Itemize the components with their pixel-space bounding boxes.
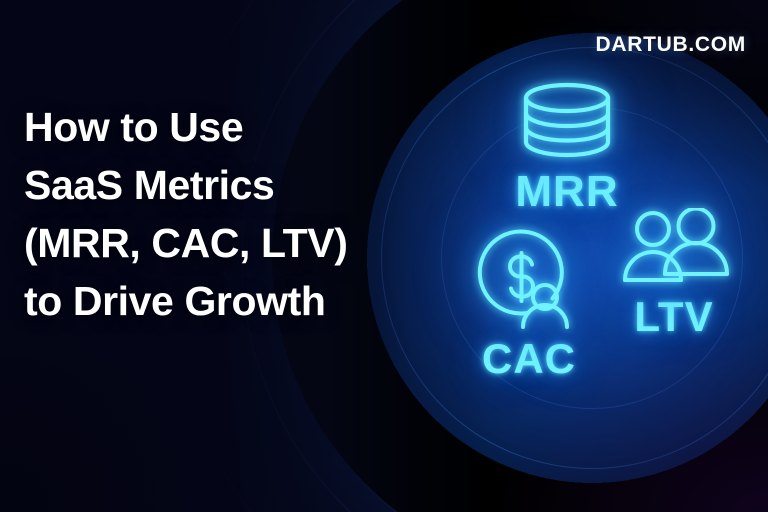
title-line-4: to Drive Growth (24, 272, 434, 330)
page-title: How to Use SaaS Metrics (MRR, CAC, LTV) … (24, 98, 434, 330)
title-line-2: SaaS Metrics (24, 156, 434, 214)
metric-cac-label: CAC (482, 337, 576, 381)
metric-cac: CAC (470, 228, 588, 381)
banner-canvas: DARTUB.COM How to Use SaaS Metrics (MRR,… (0, 0, 768, 512)
metric-ltv: LTV (618, 208, 730, 339)
metric-mrr-label: MRR (515, 169, 618, 215)
database-cylinder-icon (515, 82, 619, 163)
brand-watermark: DARTUB.COM (596, 33, 746, 57)
metric-ltv-label: LTV (634, 295, 713, 339)
metric-mrr: MRR (515, 82, 619, 215)
title-line-3: (MRR, CAC, LTV) (24, 214, 434, 272)
dollar-circle-person-icon (470, 228, 588, 335)
title-line-1: How to Use (24, 98, 434, 156)
two-people-icon (618, 208, 730, 293)
